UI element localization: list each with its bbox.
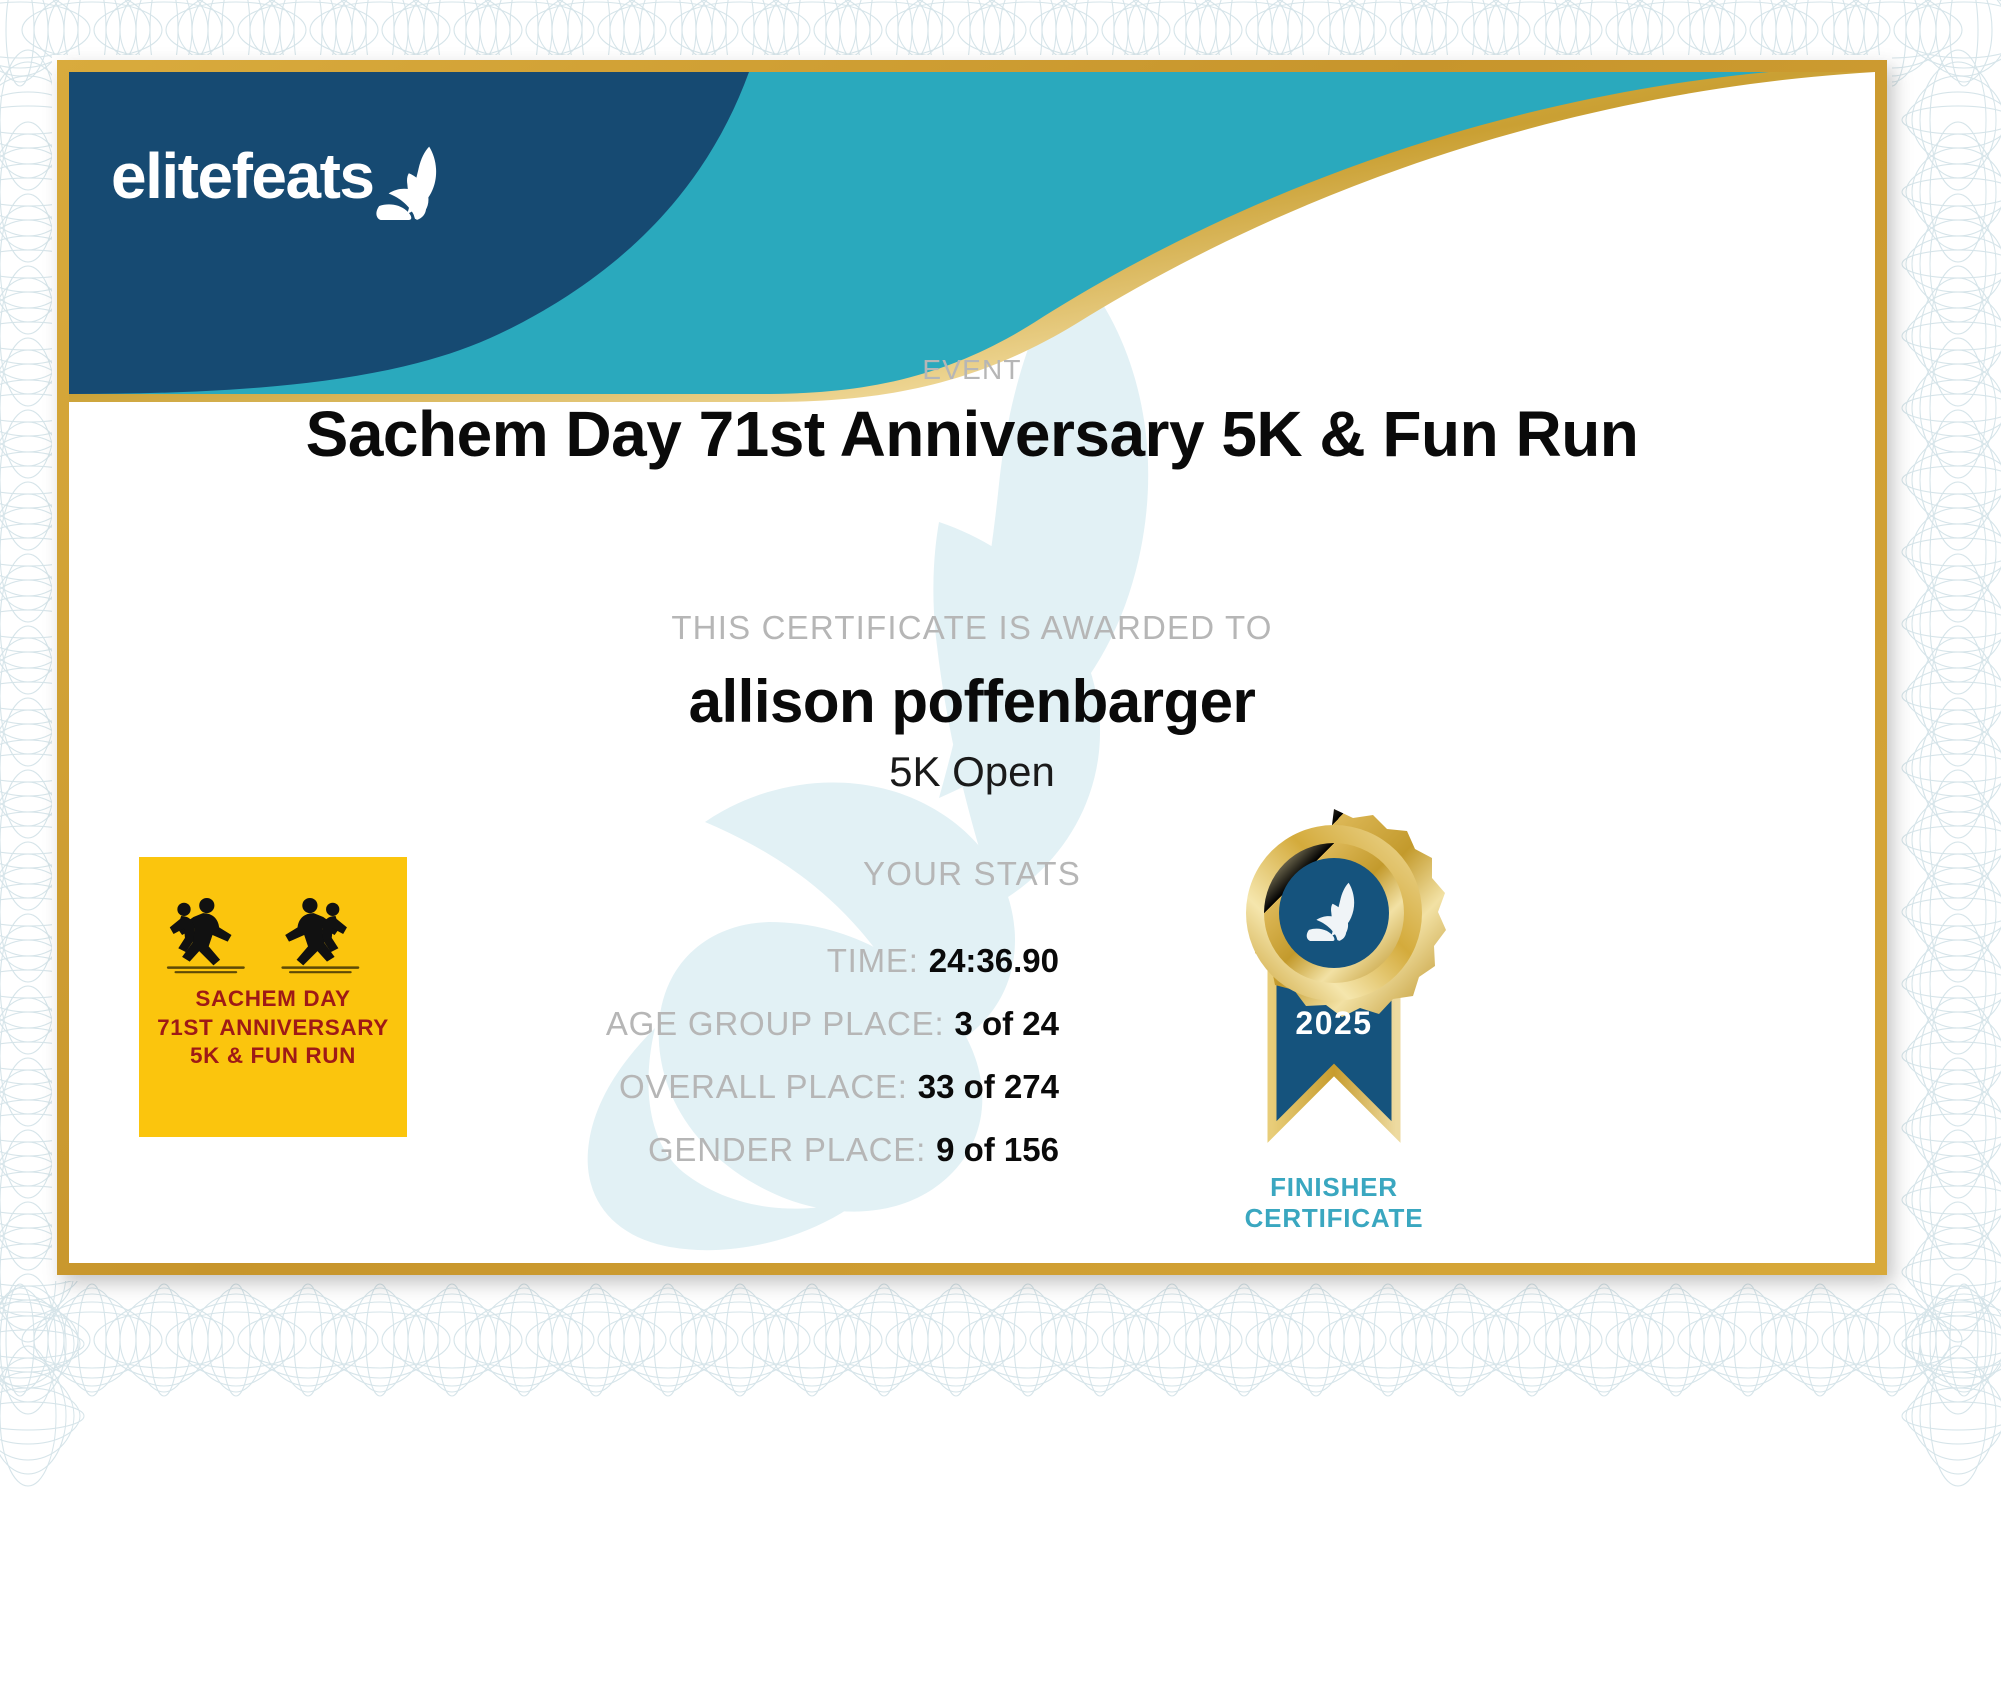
stat-key: AGE GROUP PLACE:: [606, 1005, 945, 1043]
seal-caption-line-1: FINISHER: [1174, 1172, 1494, 1203]
stat-row-time: TIME: 24:36.90: [399, 942, 1059, 980]
seal-year: 2025: [1295, 1005, 1372, 1041]
stat-value: 24:36.90: [929, 942, 1059, 980]
runners-icon: [139, 891, 407, 975]
event-logo-line-1: SACHEM DAY: [139, 985, 407, 1014]
certificate-gold-frame: elitefeats EVENT Sachem Day 71st Anniver…: [57, 60, 1887, 1275]
stat-row-gender-place: GENDER PLACE: 9 of 156: [399, 1131, 1059, 1169]
certificate-page: elitefeats EVENT Sachem Day 71st Anniver…: [0, 0, 2001, 1700]
event-logo-line-3: 5K & FUN RUN: [139, 1042, 407, 1071]
stat-key: GENDER PLACE:: [648, 1131, 926, 1169]
event-logo-line-2: 71ST ANNIVERSARY: [139, 1014, 407, 1043]
event-title: Sachem Day 71st Anniversary 5K & Fun Run: [69, 397, 1875, 471]
stat-value: 3 of 24: [954, 1005, 1059, 1043]
stat-row-overall-place: OVERALL PLACE: 33 of 274: [399, 1068, 1059, 1106]
event-logo-badge: SACHEM DAY 71ST ANNIVERSARY 5K & FUN RUN: [139, 857, 407, 1137]
logo-wordmark: elitefeats: [111, 144, 373, 208]
stat-row-age-group-place: AGE GROUP PLACE: 3 of 24: [399, 1005, 1059, 1043]
seal-caption: FINISHER CERTIFICATE: [1174, 1172, 1494, 1233]
event-label: EVENT: [69, 354, 1875, 386]
stat-value: 9 of 156: [936, 1131, 1059, 1169]
stats-table: TIME: 24:36.90 AGE GROUP PLACE: 3 of 24 …: [399, 942, 1059, 1194]
stat-key: OVERALL PLACE:: [619, 1068, 908, 1106]
winged-foot-icon: [373, 142, 451, 220]
seal-caption-line-2: CERTIFICATE: [1174, 1203, 1494, 1234]
finisher-medal-seal: 2025: [1214, 802, 1454, 1202]
certificate-content: EVENT Sachem Day 71st Anniversary 5K & F…: [69, 72, 1875, 1263]
recipient-name: allison poffenbarger: [69, 667, 1875, 736]
stat-key: TIME:: [827, 942, 919, 980]
elitefeats-logo: elitefeats: [111, 132, 451, 220]
certificate-body: elitefeats EVENT Sachem Day 71st Anniver…: [69, 72, 1875, 1263]
event-logo-text: SACHEM DAY 71ST ANNIVERSARY 5K & FUN RUN: [139, 985, 407, 1071]
awarded-to-label: THIS CERTIFICATE IS AWARDED TO: [69, 609, 1875, 647]
division-label: 5K Open: [69, 748, 1875, 796]
stat-value: 33 of 274: [918, 1068, 1059, 1106]
